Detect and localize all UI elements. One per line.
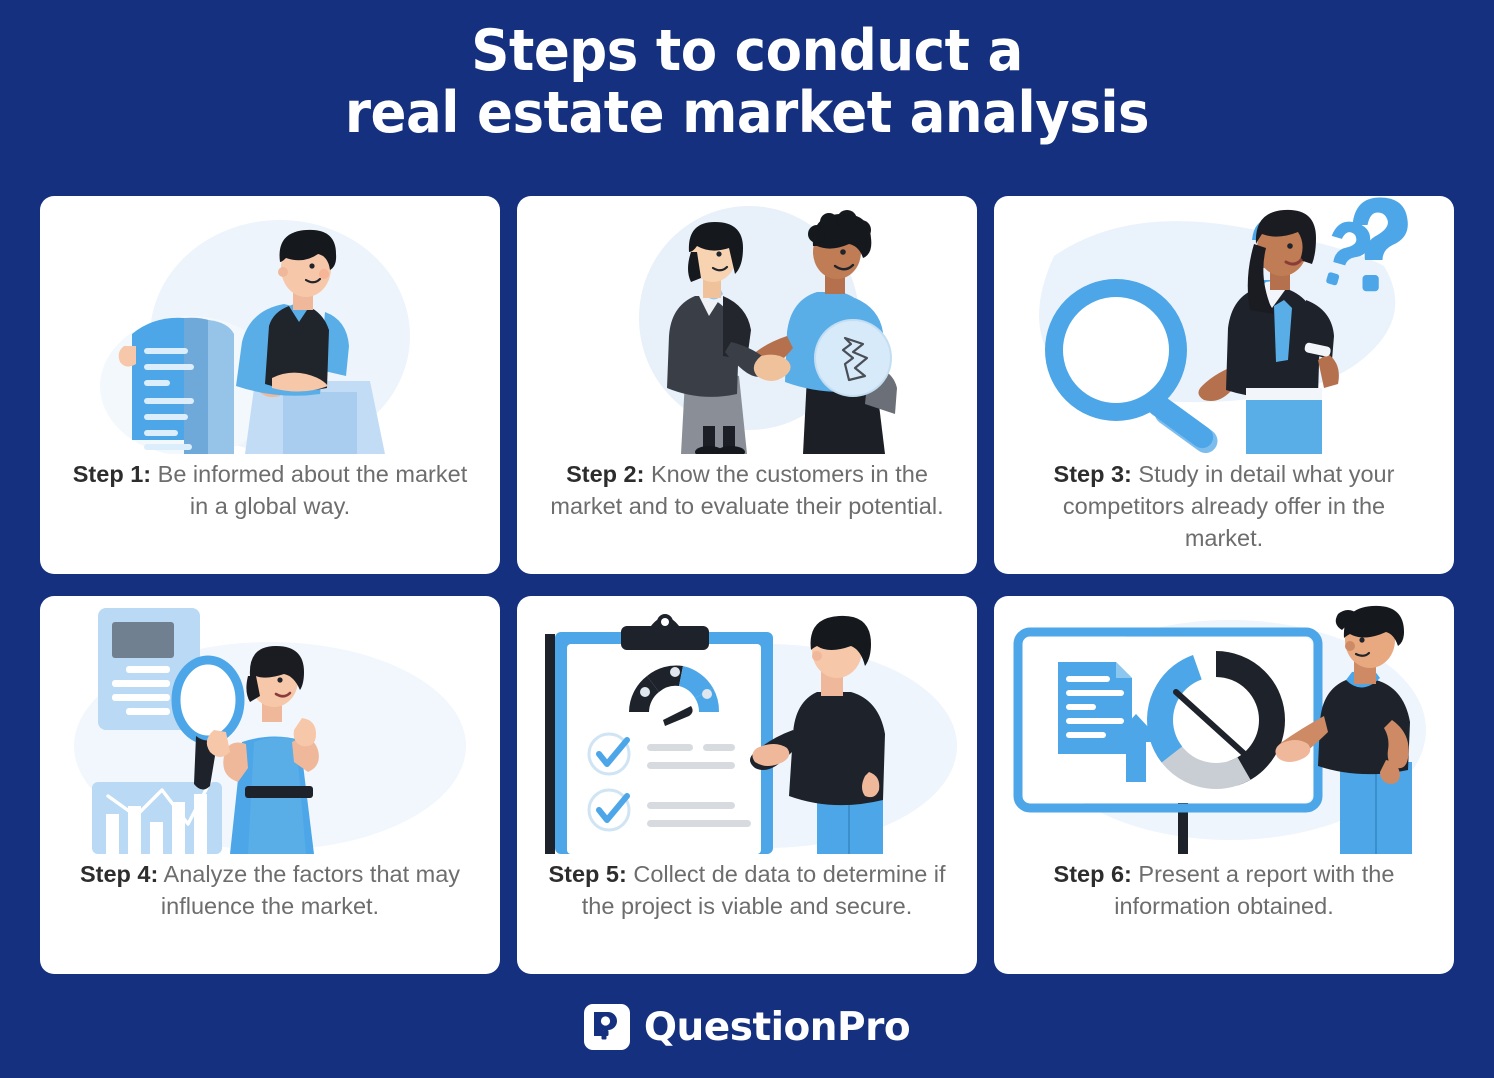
- step-card-4[interactable]: Step 4: Analyze the factors that may inf…: [40, 596, 500, 974]
- step-3-label: Step 3:: [1054, 461, 1132, 487]
- page-title-line-1: Steps to conduct a: [471, 18, 1023, 84]
- man-holding-long-document-scroll-icon: [40, 196, 500, 454]
- step-card-5[interactable]: Step 5: Collect de data to determine if …: [517, 596, 977, 974]
- step-2-illustration: [517, 196, 977, 454]
- woman-with-magnifying-glass-and-question-marks-icon: [994, 196, 1454, 454]
- step-card-3[interactable]: Step 3: Study in detail what your compet…: [994, 196, 1454, 574]
- step-6-text: Present a report with the information ob…: [1114, 861, 1394, 919]
- infographic-page: Steps to conduct a real estate market an…: [0, 0, 1494, 1078]
- step-4-illustration: [40, 596, 500, 854]
- logo-p-question-icon: [590, 1010, 624, 1044]
- step-1-caption: Step 1: Be informed about the market in …: [70, 454, 470, 574]
- step-card-2[interactable]: Step 2: Know the customers in the market…: [517, 196, 977, 574]
- step-card-1[interactable]: Step 1: Be informed about the market in …: [40, 196, 500, 574]
- step-6-label: Step 6:: [1054, 861, 1132, 887]
- step-1-illustration: [40, 196, 500, 454]
- step-1-text: Be informed about the market in a global…: [151, 461, 467, 519]
- step-2-caption: Step 2: Know the customers in the market…: [547, 454, 947, 574]
- step-6-illustration: [994, 596, 1454, 854]
- step-4-text: Analyze the factors that may influence t…: [158, 861, 460, 919]
- step-5-label: Step 5:: [548, 861, 626, 887]
- step-3-caption: Step 3: Study in detail what your compet…: [1024, 454, 1424, 574]
- steps-grid: Step 1: Be informed about the market in …: [40, 196, 1455, 974]
- step-1-label: Step 1:: [73, 461, 151, 487]
- two-people-shaking-hands-with-globe-icon: [517, 196, 977, 454]
- step-5-text: Collect de data to determine if the proj…: [582, 861, 946, 919]
- brand-name: QuestionPro: [644, 1005, 910, 1050]
- step-2-label: Step 2:: [566, 461, 644, 487]
- step-4-label: Step 4:: [80, 861, 158, 887]
- step-4-caption: Step 4: Analyze the factors that may inf…: [70, 854, 470, 974]
- man-pointing-at-clipboard-with-gauge-and-checkmarks-icon: [517, 596, 977, 854]
- page-title-line-2: real estate market analysis: [52, 82, 1441, 144]
- questionpro-logo-icon: [584, 1004, 630, 1050]
- step-card-6[interactable]: Step 6: Present a report with the inform…: [994, 596, 1454, 974]
- woman-with-magnifier-document-and-bar-chart-icon: [40, 596, 500, 854]
- step-5-illustration: [517, 596, 977, 854]
- brand-footer: QuestionPro: [0, 1004, 1494, 1050]
- step-6-caption: Step 6: Present a report with the inform…: [1024, 854, 1424, 974]
- step-3-illustration: [994, 196, 1454, 454]
- step-5-caption: Step 5: Collect de data to determine if …: [547, 854, 947, 974]
- man-presenting-board-with-donut-chart-icon: [994, 596, 1454, 854]
- page-title: Steps to conduct a real estate market an…: [52, 20, 1441, 144]
